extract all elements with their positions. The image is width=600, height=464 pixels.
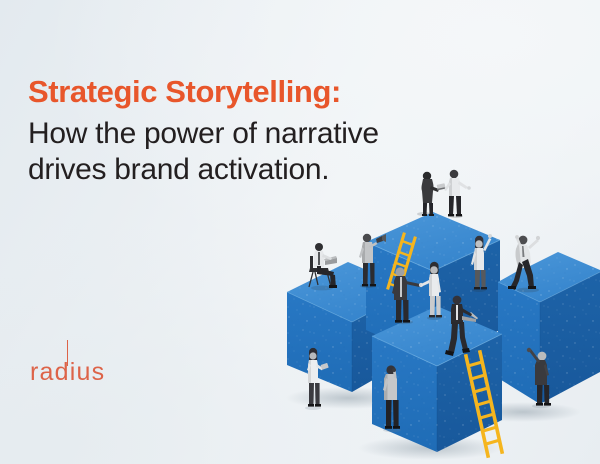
logo-i-ascender <box>67 340 69 366</box>
illustration-blue-blocks <box>0 0 600 464</box>
headline: Strategic Storytelling: <box>28 76 498 109</box>
subheadline-line-2: drives brand activation. <box>28 152 498 189</box>
subheadline-line-1: How the power of narrative <box>28 117 379 150</box>
title-group: Strategic Storytelling: How the power of… <box>28 76 498 189</box>
illustration-svg <box>0 0 600 464</box>
slide-canvas: Strategic Storytelling: How the power of… <box>0 0 600 464</box>
brand-logo: radius <box>30 360 105 385</box>
block-right <box>498 252 600 404</box>
subheadline: How the power of narrative drives brand … <box>28 116 498 189</box>
